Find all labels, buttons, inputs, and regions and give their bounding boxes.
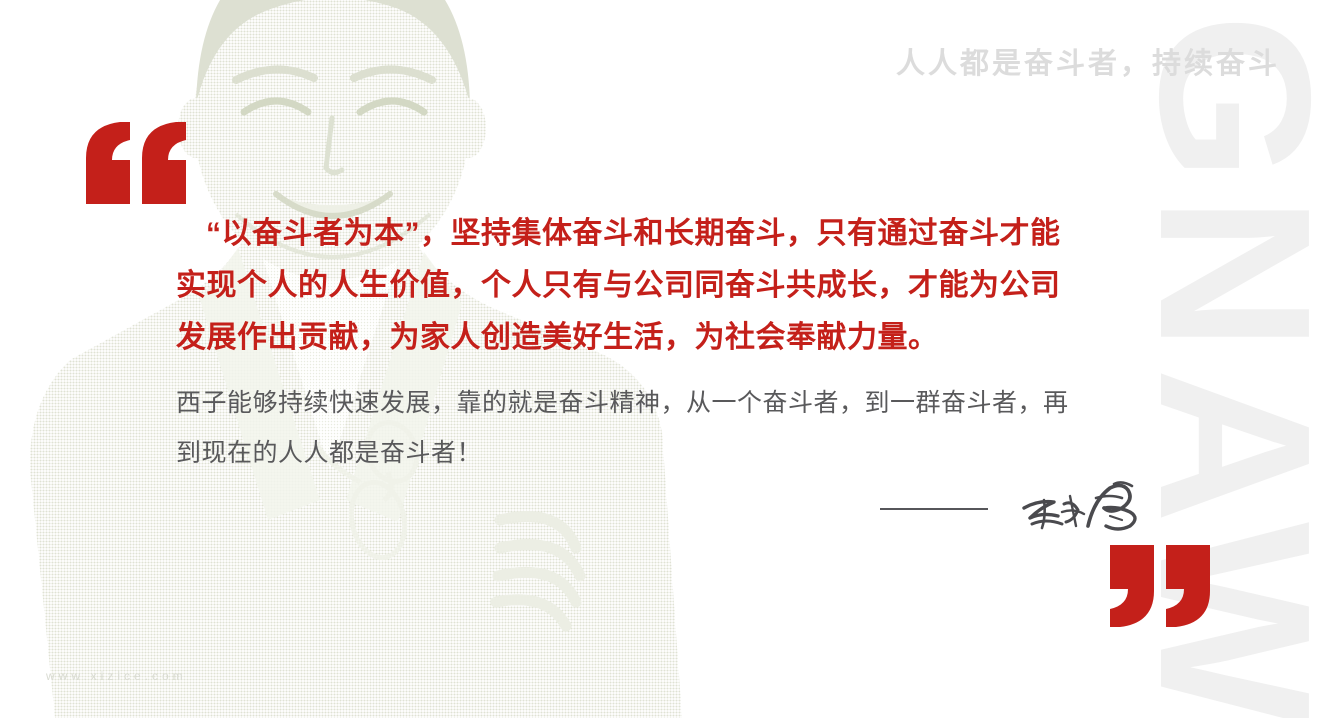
footer-website-url[interactable]: www.xizice.com bbox=[46, 669, 187, 683]
signature-mark bbox=[1018, 478, 1146, 540]
handwritten-signature-icon bbox=[1018, 478, 1146, 540]
signature-rule bbox=[880, 508, 988, 510]
signature-block bbox=[880, 478, 1146, 540]
quote-body: “以奋斗者为本”，坚持集体奋斗和长期奋斗，只有通过奋斗才能 实现个人的人生价值，… bbox=[176, 208, 1171, 478]
quote-red-text: “以奋斗者为本”，坚持集体奋斗和长期奋斗，只有通过奋斗才能 实现个人的人生价值，… bbox=[176, 208, 1171, 364]
page-title: 人人都是奋斗者，持续奋斗 bbox=[896, 40, 1280, 82]
quote-red-line-2: 实现个人的人生价值，个人只有与公司同奋斗共成长，才能为公司 bbox=[176, 260, 1171, 312]
quote-red-line-1: “以奋斗者为本”，坚持集体奋斗和长期奋斗，只有通过奋斗才能 bbox=[176, 208, 1171, 260]
quote-open-icon bbox=[86, 122, 190, 204]
quote-red-line-3: 发展作出贡献，为家人创造美好生活，为社会奉献力量。 bbox=[176, 312, 1171, 364]
quote-gray-line-2: 到现在的人人都是奋斗者！ bbox=[176, 428, 1171, 478]
close-quote-glyph bbox=[1110, 545, 1214, 627]
quote-gray-text: 西子能够持续快速发展，靠的就是奋斗精神，从一个奋斗者，到一群奋斗者，再 到现在的… bbox=[176, 378, 1171, 478]
quote-close-icon bbox=[1110, 545, 1214, 627]
quote-slide: G N A W 人人都是奋斗者，持续奋斗 bbox=[0, 0, 1322, 718]
quote-gray-line-1: 西子能够持续快速发展，靠的就是奋斗精神，从一个奋斗者，到一群奋斗者，再 bbox=[176, 378, 1171, 428]
open-quote-glyph bbox=[86, 122, 190, 204]
